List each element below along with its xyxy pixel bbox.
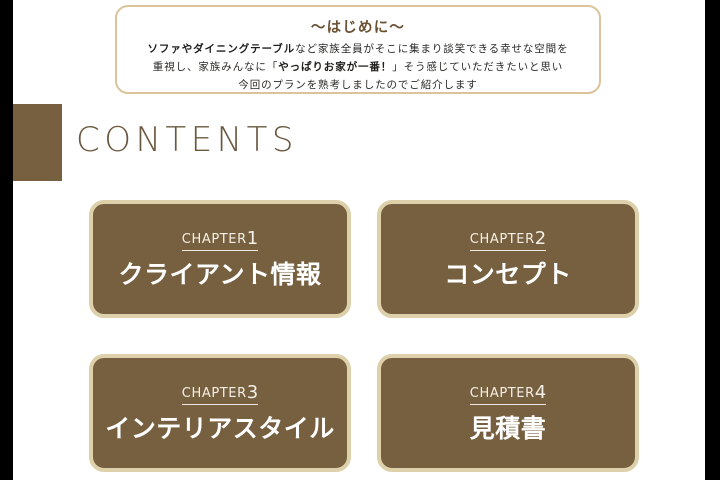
chapter-card-4[interactable]: CHAPTER4 見積書 bbox=[377, 354, 639, 472]
letterbox-bar-right bbox=[705, 0, 720, 480]
chapter-card-3[interactable]: CHAPTER3 インテリアスタイル bbox=[89, 354, 351, 472]
chapter-title-1: クライアント情報 bbox=[118, 260, 321, 290]
chapter-number: 3 bbox=[247, 382, 258, 403]
chapter-title-3: インテリアスタイル bbox=[105, 414, 335, 444]
slide-canvas: 〜はじめに〜 ソファやダイニングテーブルなど家族全員がそこに集まり談笑できる幸せ… bbox=[0, 0, 720, 480]
letterbox-bar-left bbox=[0, 0, 13, 480]
chapter-card-1[interactable]: CHAPTER1 クライアント情報 bbox=[89, 200, 351, 318]
chapter-label-text: CHAPTER bbox=[470, 232, 535, 247]
chapter-label-2: CHAPTER2 bbox=[470, 228, 546, 251]
chapter-number: 4 bbox=[535, 382, 546, 403]
chapter-card-2[interactable]: CHAPTER2 コンセプト bbox=[377, 200, 639, 318]
chapter-number: 2 bbox=[535, 228, 546, 249]
chapter-label-text: CHAPTER bbox=[182, 232, 247, 247]
chapter-card-grid: CHAPTER1 クライアント情報 CHAPTER2 コンセプト CHAPTER… bbox=[13, 0, 705, 480]
chapter-label-4: CHAPTER4 bbox=[470, 382, 546, 405]
slide-page: 〜はじめに〜 ソファやダイニングテーブルなど家族全員がそこに集まり談笑できる幸せ… bbox=[13, 0, 705, 480]
chapter-number: 1 bbox=[247, 228, 258, 249]
chapter-label-1: CHAPTER1 bbox=[182, 228, 258, 251]
chapter-title-4: 見積書 bbox=[470, 414, 547, 444]
chapter-label-text: CHAPTER bbox=[470, 386, 535, 401]
chapter-title-2: コンセプト bbox=[444, 260, 572, 290]
chapter-label-3: CHAPTER3 bbox=[182, 382, 258, 405]
chapter-label-text: CHAPTER bbox=[182, 386, 247, 401]
